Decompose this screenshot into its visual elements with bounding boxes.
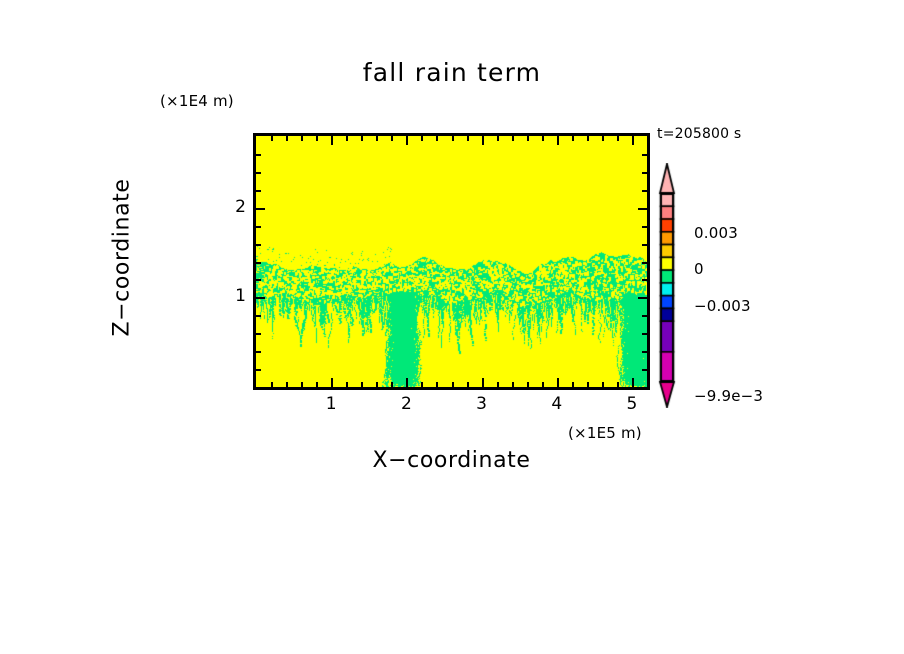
x-tick-label: 2 [386, 394, 426, 414]
y-tick-label: 1 [212, 286, 246, 306]
x-axis-unit-label: (×1E5 m) [568, 424, 642, 442]
x-tick-label: 4 [537, 394, 577, 414]
colorbar-tick-label: −9.9e−3 [694, 387, 763, 405]
colorbar [655, 163, 689, 408]
colorbar-tick-label: 0 [694, 260, 704, 278]
colorbar-tick-label: −0.003 [694, 297, 751, 315]
y-axis-title: Z−coordinate [110, 128, 135, 388]
x-tick-label: 5 [612, 394, 652, 414]
field-contour-canvas [256, 136, 647, 387]
y-tick-label: 2 [212, 197, 246, 217]
page-title: fall rain term [0, 58, 904, 87]
y-axis-unit-label: (×1E4 m) [160, 92, 234, 110]
timestamp-annotation: t=205800 s [657, 126, 741, 142]
x-axis-title: X−coordinate [253, 448, 650, 473]
x-tick-label: 3 [462, 394, 502, 414]
x-tick-label: 1 [311, 394, 351, 414]
colorbar-canvas [655, 163, 689, 408]
colorbar-tick-label: 0.003 [694, 224, 738, 242]
plot-area [253, 133, 650, 390]
